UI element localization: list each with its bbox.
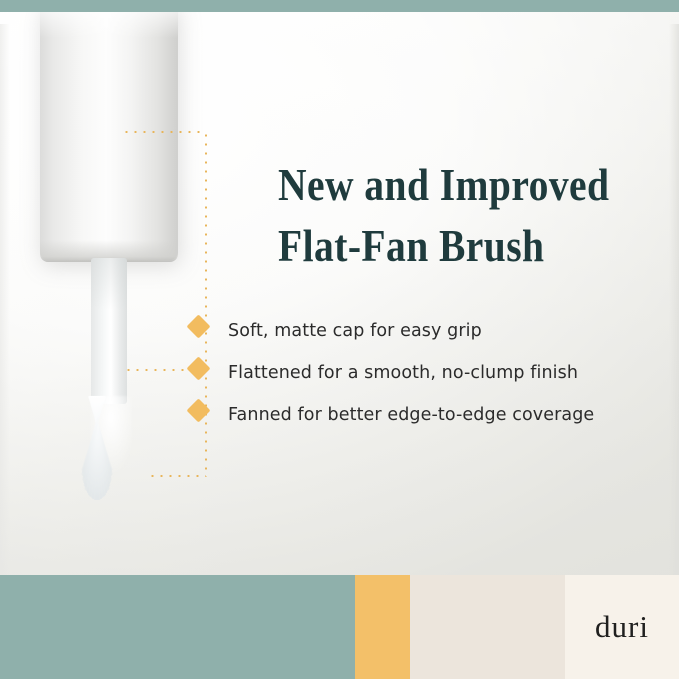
feature-label: Fanned for better edge-to-edge coverage [228,405,594,425]
nail-polish-brush-illustration [28,12,208,512]
callout-line-bristles-horizontal [148,475,206,477]
right-vignette [669,24,679,575]
callout-line-vertical-upper [205,131,207,329]
color-swatch-cream [410,575,565,679]
feature-item: Soft, matte cap for easy grip [190,310,660,352]
feature-item: Flattened for a smooth, no-clump finish [190,352,660,394]
brush-cap [40,12,178,260]
product-photo-panel: New and Improved Flat-Fan Brush Soft, ma… [0,12,679,575]
top-teal-band [0,0,679,12]
brush-cap-highlight [40,12,178,38]
brand-logo-panel: duri [565,575,679,679]
feature-list: Soft, matte cap for easy grip Flattened … [190,310,660,436]
callout-line-cap-horizontal [122,131,206,133]
headline: New and Improved Flat-Fan Brush [278,155,613,276]
left-vignette [0,24,10,575]
color-swatch-gold [355,575,410,679]
product-ad-image: New and Improved Flat-Fan Brush Soft, ma… [0,0,679,679]
brush-stem-shadow [91,258,127,404]
brush-bristles [76,396,144,504]
headline-line-1: New and Improved [278,159,609,210]
color-swatch-teal [0,575,355,679]
diamond-bullet-icon [186,356,210,380]
brand-logo-text: duri [595,609,649,645]
feature-label: Soft, matte cap for easy grip [228,321,482,341]
headline-line-2: Flat-Fan Brush [278,216,613,277]
diamond-bullet-icon [186,398,210,422]
feature-label: Flattened for a smooth, no-clump finish [228,363,578,383]
feature-item: Fanned for better edge-to-edge coverage [190,394,660,436]
diamond-bullet-icon [186,314,210,338]
bottom-color-bar: duri [0,575,679,679]
